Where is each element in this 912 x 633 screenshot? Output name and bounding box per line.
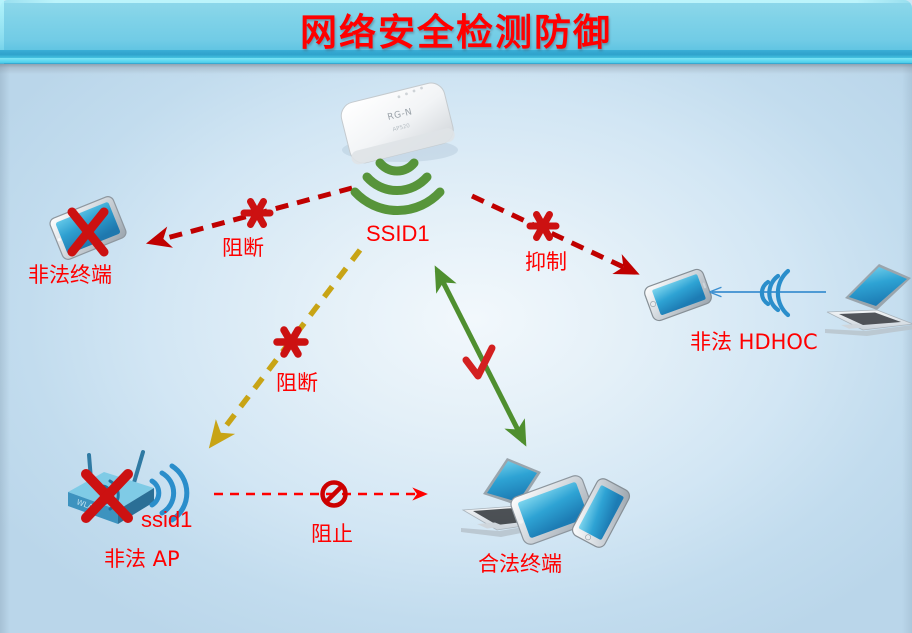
node-label-rogue-ap: 非法 AP bbox=[104, 547, 180, 571]
tablet-blocked-icon bbox=[48, 195, 128, 261]
slide-canvas: 网络安全检测防御 bbox=[0, 0, 912, 633]
link-prevent-association bbox=[214, 483, 424, 506]
link-block-ap bbox=[213, 250, 360, 443]
link-label-suppress-adhoc: 抑制 bbox=[525, 250, 567, 274]
double-headed-line bbox=[437, 270, 524, 442]
laptop-tablet-phone-icon bbox=[461, 458, 632, 550]
node-label-rogue-terminal: 非法终端 bbox=[28, 263, 112, 287]
node-label-ssid1: SSID1 bbox=[366, 222, 430, 246]
wireless-access-point-icon: RG-N AP520 bbox=[338, 80, 458, 210]
link-block-terminal bbox=[152, 188, 352, 242]
blue-wifi-arcs-icon bbox=[762, 271, 788, 315]
laptop-adhoc-icon bbox=[825, 264, 912, 336]
node-sublabel-rogue-ap-ssid: ssid1 bbox=[141, 508, 192, 532]
link-adhoc-association bbox=[712, 271, 826, 315]
diagram-layer: RG-N AP520 bbox=[0, 0, 912, 633]
green-wifi-arcs-icon bbox=[355, 163, 440, 211]
node-label-rogue-adhoc: 非法 HDHOC bbox=[690, 330, 818, 354]
red-asterisk-icon bbox=[244, 202, 270, 225]
link-label-block-ap: 阻断 bbox=[276, 371, 318, 395]
link-label-prevent-association: 阻止 bbox=[311, 522, 353, 546]
node-label-legal-terminals: 合法终端 bbox=[478, 552, 562, 576]
link-allow-legal bbox=[437, 270, 524, 442]
phone-adhoc-icon bbox=[643, 267, 714, 322]
link-label-block-terminal: 阻断 bbox=[222, 236, 264, 260]
